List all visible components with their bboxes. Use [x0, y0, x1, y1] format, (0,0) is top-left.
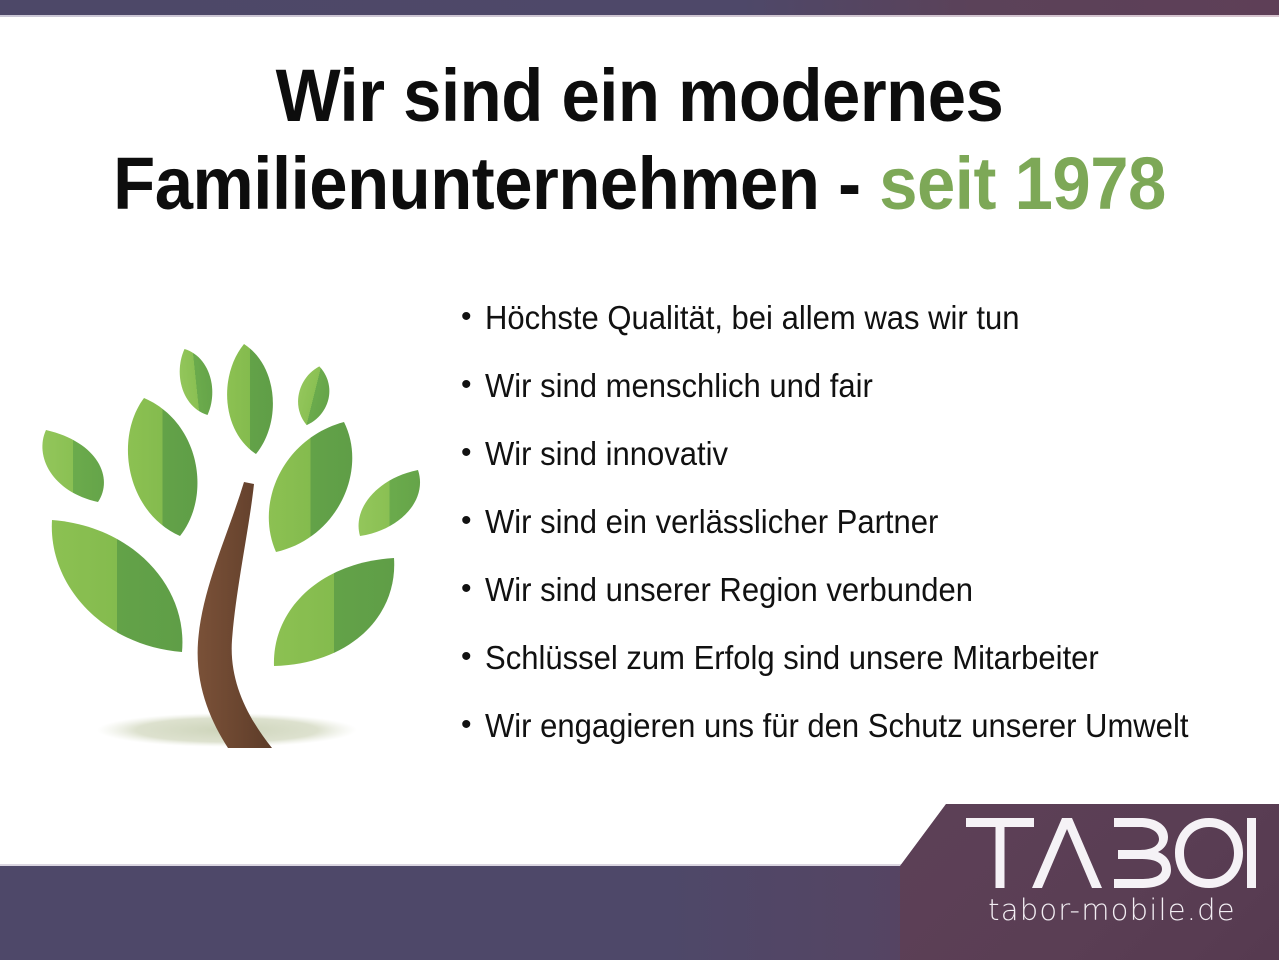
bullet-dot-icon: •	[455, 572, 485, 606]
bullet-dot-icon: •	[455, 300, 485, 334]
list-item: • Höchste Qualität, bei allem was wir tu…	[455, 300, 1265, 368]
tabor-wordmark	[966, 818, 1256, 890]
list-item-label: Wir sind innovativ	[485, 436, 728, 472]
list-item: • Wir sind ein verlässlicher Partner	[455, 504, 1265, 572]
list-item-label: Wir engagieren uns für den Schutz unsere…	[485, 708, 1188, 744]
headline-line-2-plain: Familienunternehmen -	[113, 142, 879, 225]
top-accent-bar	[0, 0, 1279, 15]
page-title: Wir sind ein modernes Familienunternehme…	[45, 52, 1234, 228]
bullet-dot-icon: •	[455, 640, 485, 674]
list-item: • Wir sind menschlich und fair	[455, 368, 1265, 436]
tree-trunk	[198, 482, 272, 748]
list-item: • Wir engagieren uns für den Schutz unse…	[455, 708, 1265, 776]
tree-illustration	[22, 330, 442, 760]
list-item-label: Wir sind ein verlässlicher Partner	[485, 504, 938, 540]
list-item-label: Wir sind unserer Region verbunden	[485, 572, 973, 608]
value-bullet-list: • Höchste Qualität, bei allem was wir tu…	[455, 300, 1265, 776]
list-item-label: Höchste Qualität, bei allem was wir tun	[485, 300, 1019, 336]
bullet-dot-icon: •	[455, 504, 485, 538]
list-item-label: Wir sind menschlich und fair	[485, 368, 873, 404]
logo-url-label: tabor-mobile.de	[966, 893, 1258, 927]
headline-accent-year: seit 1978	[879, 142, 1166, 225]
list-item: • Wir sind unserer Region verbunden	[455, 572, 1265, 640]
bullet-dot-icon: •	[455, 436, 485, 470]
bullet-dot-icon: •	[455, 708, 485, 742]
headline-line-1: Wir sind ein modernes	[45, 52, 1234, 140]
bullet-dot-icon: •	[455, 368, 485, 402]
headline-line-2: Familienunternehmen - seit 1978	[45, 140, 1234, 228]
list-item: • Schlüssel zum Erfolg sind unsere Mitar…	[455, 640, 1265, 708]
top-accent-bar-underline	[0, 15, 1279, 17]
list-item-label: Schlüssel zum Erfolg sind unsere Mitarbe…	[485, 640, 1099, 676]
slide-canvas: Wir sind ein modernes Familienunternehme…	[0, 0, 1279, 960]
list-item: • Wir sind innovativ	[455, 436, 1265, 504]
